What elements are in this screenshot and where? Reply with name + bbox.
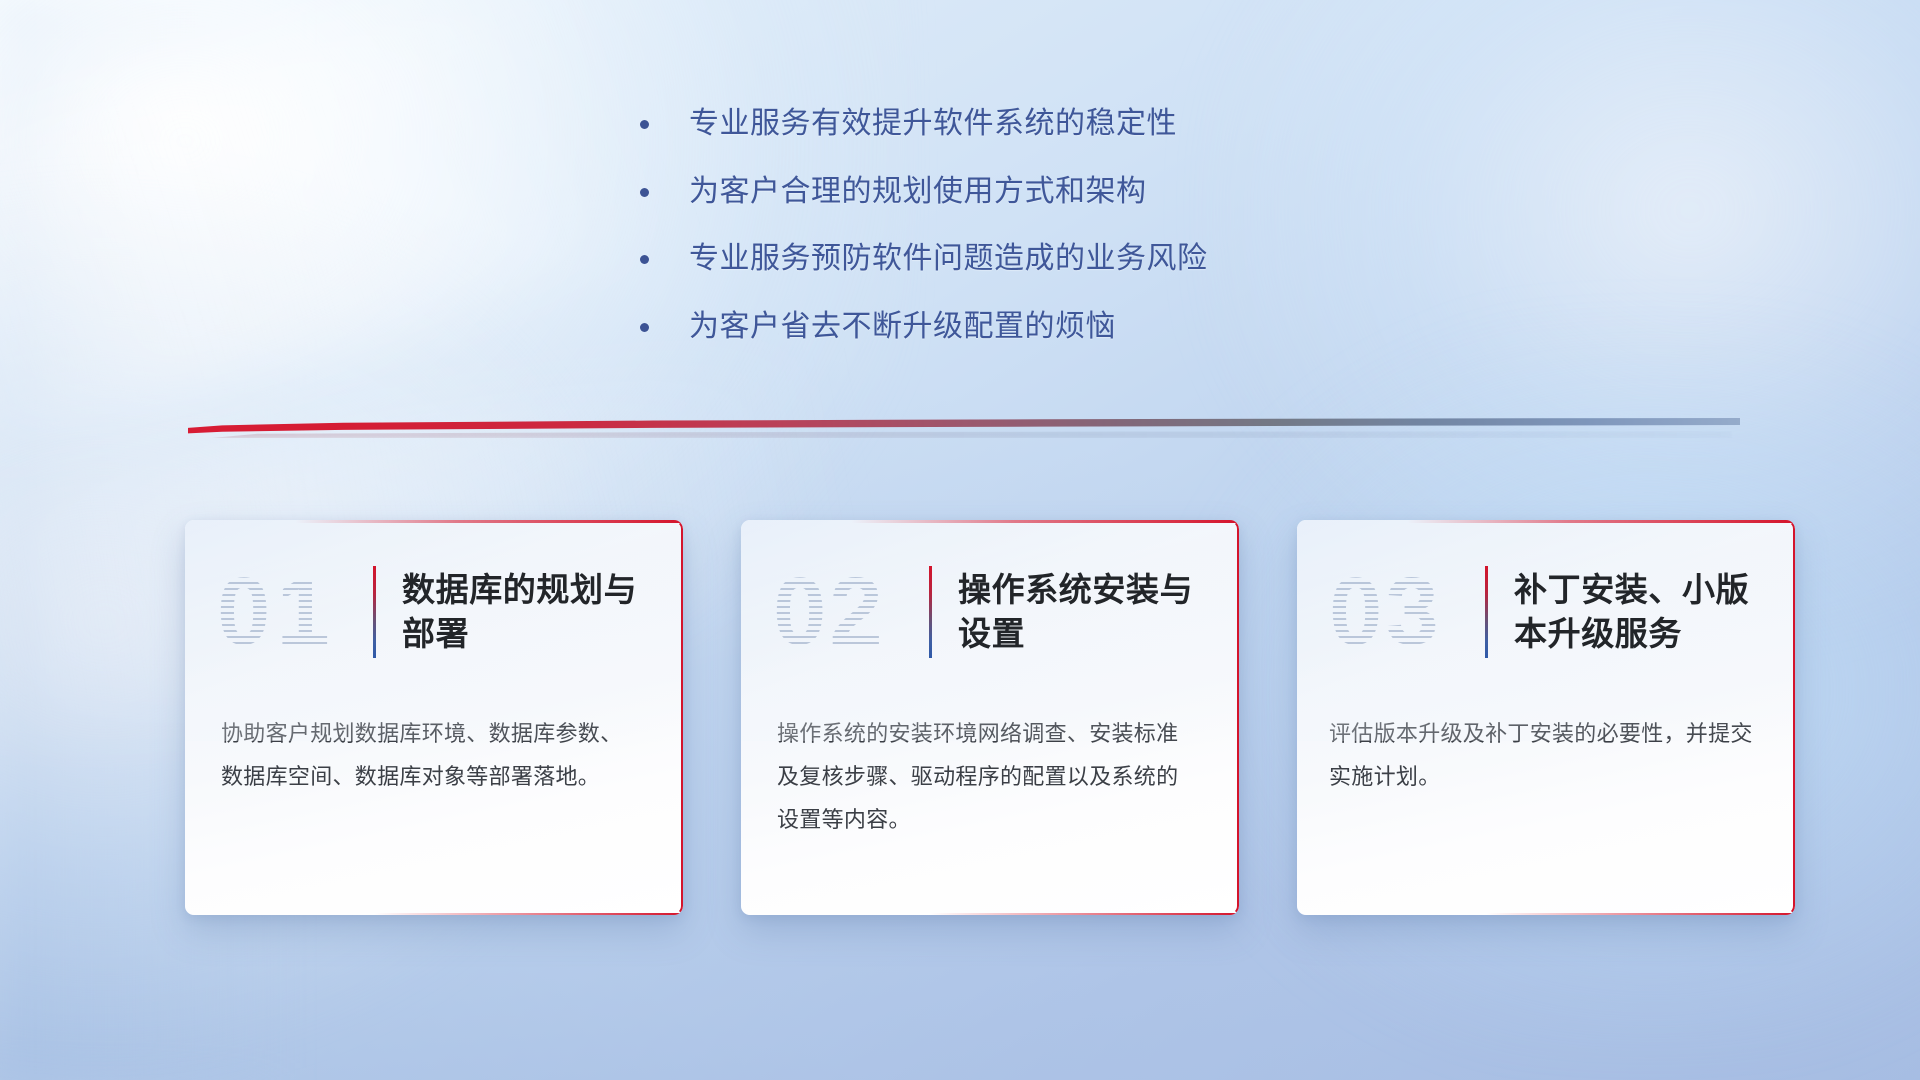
bullet-item-4: 为客户省去不断升级配置的烦恼 — [640, 307, 1420, 347]
benefits-bullet-list: 专业服务有效提升软件系统的稳定性 为客户合理的规划使用方式和架构 专业服务预防软… — [640, 104, 1420, 374]
service-card-03[interactable]: 03 补丁安装、小版本升级服务 评估版本升级及补丁安装的必要性，并提交实施计划。 — [1297, 520, 1795, 915]
card-header: 02 操作系统安装与设置 — [741, 520, 1239, 660]
card-title: 操作系统安装与设置 — [958, 568, 1239, 656]
card-title-rule — [1485, 566, 1488, 658]
card-accent-bottom — [1486, 913, 1795, 916]
service-card-list: 01 数据库的规划与部署 协助客户规划数据库环境、数据库参数、数据库空间、数据库… — [185, 520, 1795, 915]
card-header: 01 数据库的规划与部署 — [185, 520, 683, 660]
card-number: 01 — [211, 564, 371, 660]
card-body-text: 协助客户规划数据库环境、数据库参数、数据库空间、数据库对象等部署落地。 — [185, 660, 683, 798]
slide-canvas: 专业服务有效提升软件系统的稳定性 为客户合理的规划使用方式和架构 专业服务预防软… — [0, 0, 1920, 1080]
bullet-item-label: 为客户合理的规划使用方式和架构 — [689, 172, 1147, 212]
bullet-item-label: 专业服务预防软件问题造成的业务风险 — [689, 239, 1208, 279]
card-accent-bottom — [374, 913, 683, 916]
card-number: 03 — [1323, 564, 1483, 660]
bullet-dot-icon — [640, 323, 649, 332]
bullet-dot-icon — [640, 255, 649, 264]
bullet-dot-icon — [640, 188, 649, 197]
card-body-text: 评估版本升级及补丁安装的必要性，并提交实施计划。 — [1297, 660, 1795, 798]
bullet-dot-icon — [640, 120, 649, 129]
divider-shadow — [211, 431, 1732, 438]
card-title: 补丁安装、小版本升级服务 — [1514, 568, 1795, 656]
bullet-item-3: 专业服务预防软件问题造成的业务风险 — [640, 239, 1420, 279]
bullet-item-1: 专业服务有效提升软件系统的稳定性 — [640, 104, 1420, 144]
card-accent-bottom — [930, 913, 1239, 916]
section-divider — [188, 418, 1740, 444]
card-number: 02 — [767, 564, 927, 660]
service-card-01[interactable]: 01 数据库的规划与部署 协助客户规划数据库环境、数据库参数、数据库空间、数据库… — [185, 520, 683, 915]
card-body-text: 操作系统的安装环境网络调查、安装标准及复核步骤、驱动程序的配置以及系统的设置等内… — [741, 660, 1239, 841]
service-card-02[interactable]: 02 操作系统安装与设置 操作系统的安装环境网络调查、安装标准及复核步骤、驱动程… — [741, 520, 1239, 915]
card-title: 数据库的规划与部署 — [402, 568, 683, 656]
bullet-item-label: 专业服务有效提升软件系统的稳定性 — [689, 104, 1177, 144]
bullet-item-label: 为客户省去不断升级配置的烦恼 — [689, 307, 1116, 347]
bullet-item-2: 为客户合理的规划使用方式和架构 — [640, 172, 1420, 212]
card-title-rule — [929, 566, 932, 658]
card-title-rule — [373, 566, 376, 658]
card-header: 03 补丁安装、小版本升级服务 — [1297, 520, 1795, 660]
